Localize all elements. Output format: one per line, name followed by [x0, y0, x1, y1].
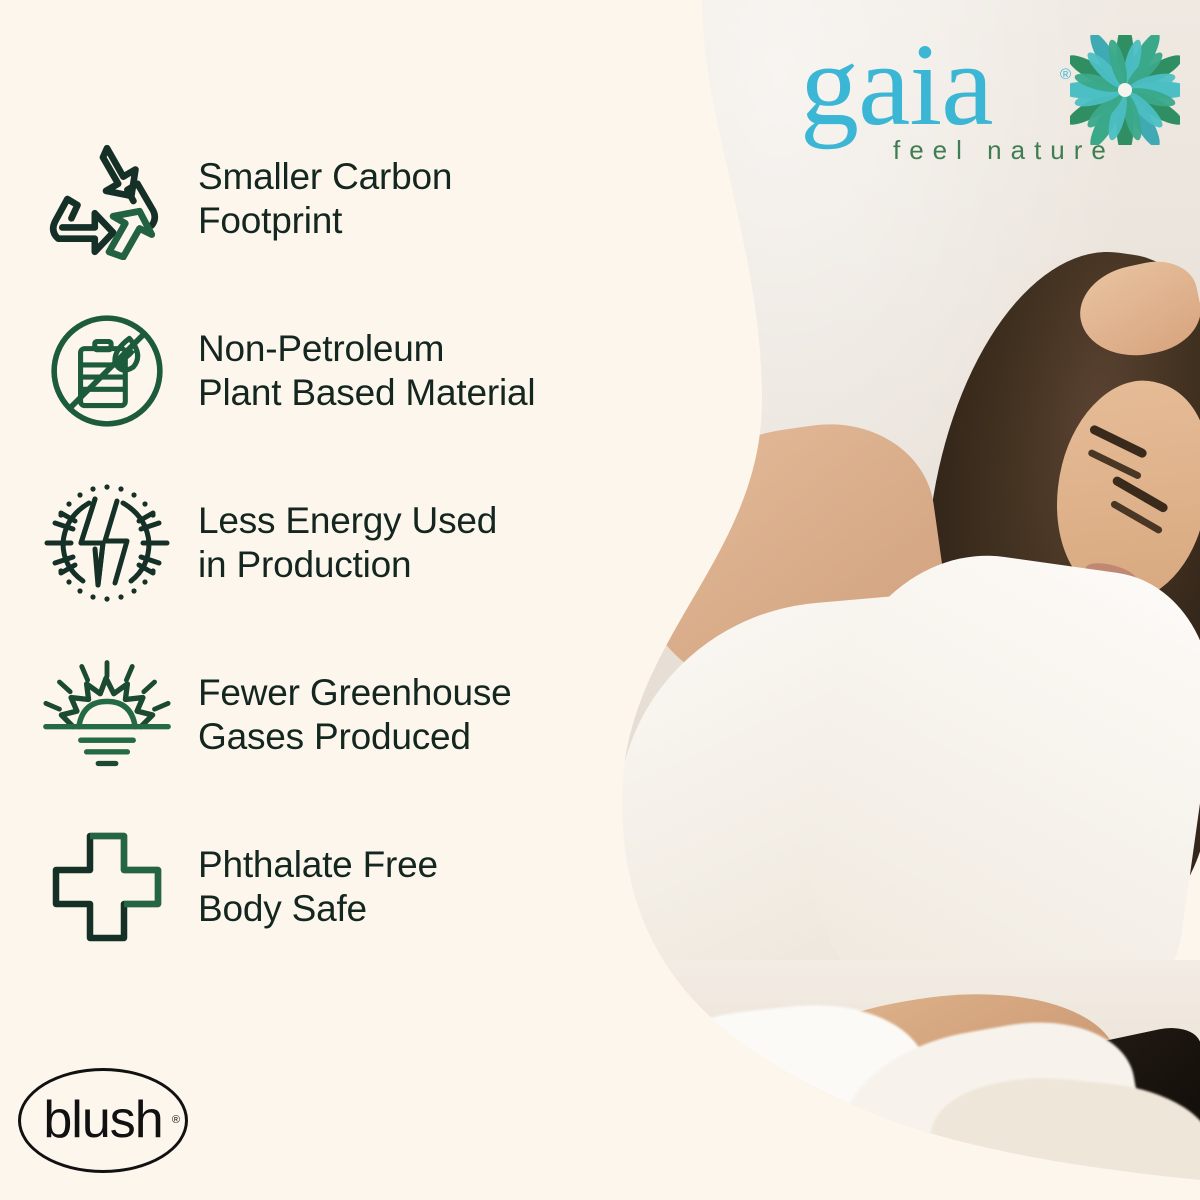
- feature-label: Fewer Greenhouse Gases Produced: [198, 671, 512, 758]
- sunrise-icon: [42, 655, 172, 775]
- duvet-zipper: [682, 1080, 705, 1149]
- bed-sheet: [414, 1040, 725, 1200]
- feature-item: Fewer Greenhouse Gases Produced: [42, 641, 632, 789]
- feature-item: Phthalate Free Body Safe: [42, 813, 632, 961]
- product-feature-poster: gaia ® feel nature: [0, 0, 1200, 1200]
- no-petroleum-barrel-icon: [42, 310, 172, 432]
- medical-cross-icon: [42, 828, 172, 946]
- flower-icon: [1070, 35, 1180, 145]
- blush-logo: blush ®: [18, 1068, 188, 1173]
- lightning-bolt-icon: [42, 479, 172, 607]
- blush-wordmark: blush: [43, 1089, 162, 1149]
- feature-item: Less Energy Used in Production: [42, 469, 632, 617]
- feature-item: Smaller Carbon Footprint: [42, 125, 632, 273]
- palm-leaf-icon: [120, 1080, 680, 1200]
- blush-registered-mark: ®: [172, 1114, 180, 1126]
- feature-label: Phthalate Free Body Safe: [198, 843, 438, 930]
- recycle-icon: [42, 138, 172, 260]
- gaia-logo: gaia ® feel nature: [795, 30, 1175, 175]
- feature-label: Less Energy Used in Production: [198, 499, 497, 586]
- feature-label: Non-Petroleum Plant Based Material: [198, 327, 535, 414]
- gaia-wordmark: gaia: [800, 26, 993, 144]
- feature-label: Smaller Carbon Footprint: [198, 155, 452, 242]
- feature-item: Non-Petroleum Plant Based Material: [42, 297, 632, 445]
- eco-feature-list: Smaller Carbon Footprint: [42, 125, 632, 961]
